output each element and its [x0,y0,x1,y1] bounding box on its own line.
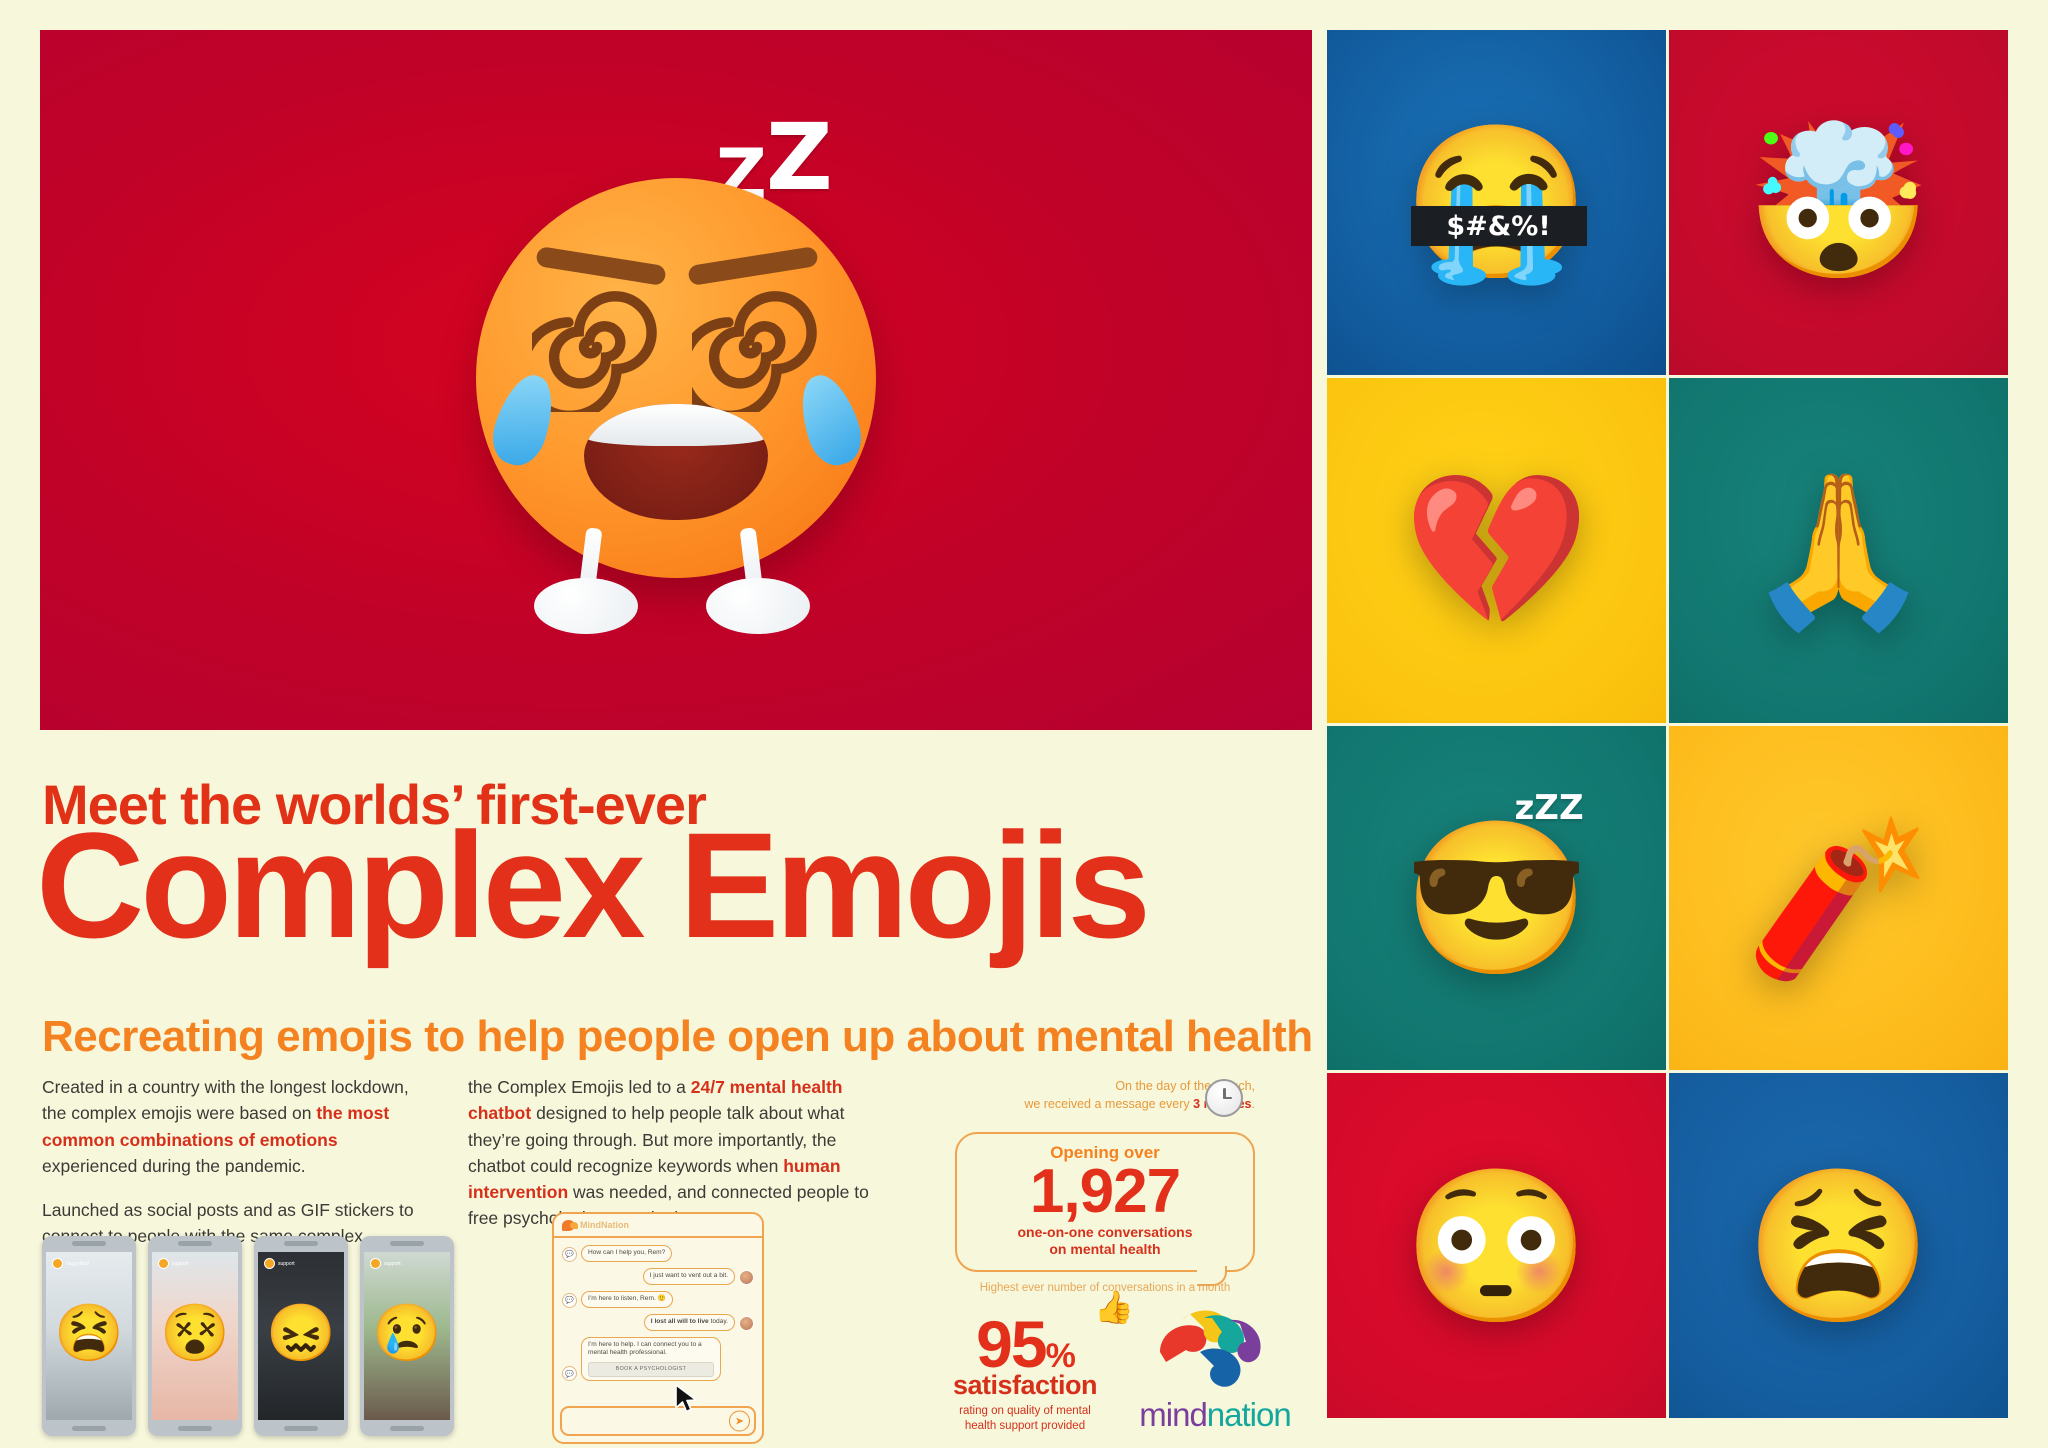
story-handle: support [264,1258,295,1269]
emoji-glyph: 😳 [1403,1171,1590,1321]
body-paragraph: the Complex Emojis led to a 24/7 mental … [468,1074,888,1232]
steam-cloud-right [706,578,810,634]
bubble-sub-line1: one-on-one conversations [1017,1224,1192,1240]
avatar [158,1258,169,1269]
page-subtitle: Recreating emojis to help people open up… [42,1012,1313,1062]
emoji-tile-pinned-notes-head-crying-face: 😫 [1669,1073,2008,1418]
body-text: the Complex Emojis led to a [468,1077,691,1097]
chat-bubble: I’m here to help. I can connect you to a… [581,1337,721,1382]
emoji-glyph: 🤯 [1745,127,1932,277]
user-avatar [739,1270,754,1285]
phone-screen: support😢 [364,1252,450,1420]
avatar [52,1258,63,1269]
emoji-glyph: 😭 [1403,127,1590,277]
steam-cloud-left [534,578,638,634]
spiral-eye-right-icon [692,282,822,412]
bot-avatar: 💬 [562,1366,577,1381]
page-title: Complex Emojis [36,810,1147,960]
bot-avatar: 💬 [562,1247,577,1262]
satisfaction-detail: rating on quality of mental health suppo… [945,1404,1105,1433]
avatar [370,1258,381,1269]
phone-home-button [284,1426,318,1431]
emoji-glyph: 🙏 [1745,475,1932,625]
emoji-grid: 😭$#&%!🤯💔🙏😎zZZ🧨😳😫 [1327,30,2008,1418]
emoji-tile-sunglasses-sleeping-sweat-face: 😎zZZ [1327,726,1666,1071]
chat-message-row: 💬I’m here to listen, Rem. 🙂 [562,1291,754,1308]
phone-speaker [390,1241,424,1246]
emoji-art: 🧨 [1739,798,1939,998]
chat-bubble: I’m here to listen, Rem. 🙂 [581,1291,673,1308]
launch-note-line2-post: . [1252,1097,1255,1111]
chat-bubble: How can I help you, Rem? [581,1245,672,1262]
chat-bubble: I lost all will to live today. [644,1314,735,1331]
send-icon[interactable]: ➤ [729,1411,750,1432]
story-handle: support [158,1258,189,1269]
chat-header: MindNation [554,1214,762,1238]
zzz-icon: zZZ [1515,788,1584,828]
chat-message-list: 💬How can I help you, Rem?I just want to … [554,1238,762,1394]
phone-emoji-crying-praying-face: 😢 [372,1305,442,1361]
phone-emoji-pinned-head-crying-face: 😫 [54,1305,124,1361]
chat-input[interactable]: ➤ [560,1406,756,1436]
emoji-art: 😳 [1397,1146,1597,1346]
satisfaction-percent: % [1046,1337,1074,1375]
user-avatar [739,1316,754,1331]
phone-speaker [178,1241,212,1246]
brand-block: mindnation [1125,1300,1305,1434]
phone-screen: support😖 [258,1252,344,1420]
chat-message-row: 💬I’m here to help. I can connect you to … [562,1337,754,1382]
phone-speaker [284,1241,318,1246]
satisfaction-number: 95 [976,1307,1045,1381]
avatar [264,1258,275,1269]
zzz-icon-3: Z [766,104,833,211]
emoji-tile-crying-broken-heart-hug-face: 💔 [1327,378,1666,723]
mouse-cursor-icon [674,1384,700,1414]
book-psychologist-button[interactable]: BOOK A PSYCHOLOGIST [588,1362,714,1377]
emoji-glyph: 🧨 [1745,823,1932,973]
satisfaction-detail-line1: rating on quality of mental [959,1405,1091,1417]
body-text: experienced during the pandemic. [42,1156,306,1176]
emoji-art: 😫 [1739,1146,1939,1346]
mindnation-logo-icon [562,1220,575,1231]
phone-screen: support😵 [152,1252,238,1420]
bot-avatar: 💬 [562,1293,577,1308]
hero-banner: z Z Z [40,30,1312,730]
chat-message-row: I lost all will to live today. [562,1314,754,1331]
satisfaction-stat: 95% 👍 satisfaction rating on quality of … [945,1315,1105,1433]
chat-bubble: I just want to vent out a bit. [643,1268,735,1285]
phone-emoji-exploding-head-thumbs-up-face: 😖 [266,1305,336,1361]
emoji-tile-dynamite-head-crying-face: 🧨 [1669,726,2008,1071]
satisfaction-detail-line2: health support provided [965,1420,1085,1432]
phone-emoji-dizzy-crying-sleeping-face: 😵 [160,1305,230,1361]
bubble-number: 1,927 [957,1163,1253,1222]
emoji-glyph: 😫 [1745,1171,1932,1321]
story-handle-text: support [278,1261,295,1267]
story-handle-text: support [384,1261,401,1267]
phone-mockup: support😖 [254,1236,348,1436]
hero-emoji-dizzy-crying-sleeping-face: z Z Z [416,120,936,640]
phone-home-button [72,1426,106,1431]
story-handle-text: support [172,1261,189,1267]
bubble-sub-line2: on mental health [1049,1241,1160,1257]
story-handle: happykind [52,1258,89,1269]
phone-mockup: happykind😫 [42,1236,136,1436]
emoji-art: 😎zZZ [1397,798,1597,998]
emoji-art: 😭$#&%! [1397,102,1597,302]
story-handle: support [370,1258,401,1269]
conversations-stat-bubble: Opening over 1,927 one-on-one conversati… [955,1132,1255,1272]
story-handle-text: happykind [66,1261,89,1267]
brand-name-part1: mind [1139,1396,1207,1433]
body-column-2: the Complex Emojis led to a 24/7 mental … [468,1074,888,1232]
emoji-glyph: 😎 [1403,823,1590,973]
emoji-tile-face-covered-hands-crying: 😳 [1327,1073,1666,1418]
emoji-tile-crying-swearing-face: 😭$#&%! [1327,30,1666,375]
clock-icon [1205,1079,1243,1117]
emoji-face [476,178,876,578]
phone-home-button [390,1426,424,1431]
body-paragraph: Created in a country with the longest lo… [42,1074,420,1179]
brand-name-part2: nation [1207,1396,1291,1433]
chat-emphasis: I lost all will to live [651,1318,709,1325]
open-mouth [584,404,768,520]
chatbot-mockup: MindNation 💬How can I help you, Rem?I ju… [552,1212,764,1444]
emoji-tile-crying-praying-face: 🙏 [1669,378,2008,723]
phone-screen: happykind😫 [46,1252,132,1420]
bubble-sub: one-on-one conversations on mental healt… [957,1224,1253,1258]
emoji-tile-exploding-head-thumbs-up-face: 🤯 [1669,30,2008,375]
censor-bar: $#&%! [1411,206,1587,246]
phone-home-button [178,1426,212,1431]
emoji-art: 🤯 [1739,102,1939,302]
launch-note-line2-pre: we received a message every [1024,1097,1193,1111]
spiral-eye-left-icon [532,282,662,412]
brand-name: mindnation [1125,1396,1305,1434]
phone-mockup: support😵 [148,1236,242,1436]
chat-message-row: 💬How can I help you, Rem? [562,1245,754,1262]
satisfaction-number-wrap: 95% 👍 [976,1315,1074,1374]
emoji-art: 🙏 [1739,450,1939,650]
phone-mockup: support😢 [360,1236,454,1436]
phone-mockups: happykind😫support😵support😖support😢 [42,1236,454,1436]
chat-message-row: I just want to vent out a bit. [562,1268,754,1285]
mindnation-hands-brain-logo [1152,1300,1278,1394]
poster-root: z Z Z [0,0,2048,1448]
phone-speaker [72,1241,106,1246]
chat-app-name: MindNation [580,1220,629,1230]
emoji-art: 💔 [1397,450,1597,650]
emoji-glyph: 💔 [1403,475,1590,625]
